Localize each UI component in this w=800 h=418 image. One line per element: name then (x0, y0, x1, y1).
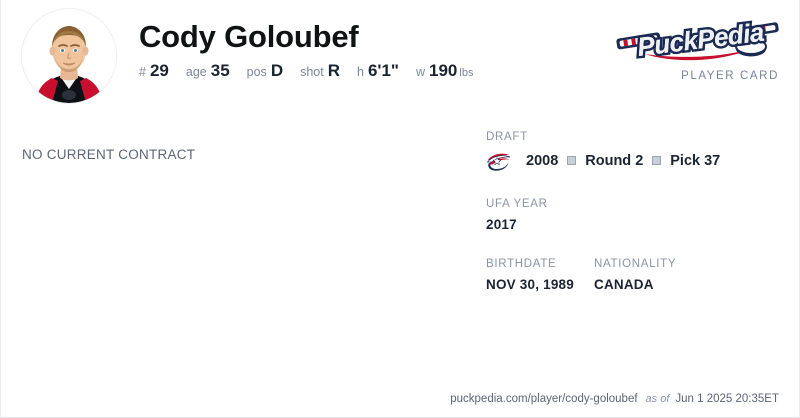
avatar (21, 8, 117, 104)
page-title: Cody Goloubef (139, 18, 473, 56)
draft-separator-icon (567, 156, 576, 165)
stat-height-value: 6'1" (368, 61, 399, 81)
stat-age-value: 35 (211, 61, 230, 81)
birth-nationality-group: BIRTHDATE NOV 30, 1989 NATIONALITY CANAD… (486, 258, 786, 292)
draft-pick: Pick 37 (670, 153, 720, 169)
stat-number: # 29 (139, 61, 169, 81)
stat-number-value: 29 (150, 61, 169, 81)
brand-subtitle: PLAYER CARD (615, 70, 783, 82)
stat-weight-label: w (416, 65, 425, 79)
name-block: Cody Goloubef # 29 age 35 pos D shot R (139, 18, 473, 81)
player-stats-row: # 29 age 35 pos D shot R h 6'1" (139, 61, 473, 81)
stat-height-label: h (357, 65, 364, 79)
footer-url[interactable]: puckpedia.com/player/cody-goloubef (450, 393, 637, 405)
birthdate-value: NOV 30, 1989 (486, 277, 594, 292)
draft-separator-icon (652, 156, 661, 165)
stat-height: h 6'1" (357, 61, 399, 81)
stat-weight: w 190 lbs (416, 61, 473, 81)
stat-shot-label: shot (300, 65, 324, 79)
columbus-blue-jackets-logo-icon (486, 150, 512, 172)
stat-position: pos D (247, 61, 283, 81)
nationality-group: NATIONALITY CANADA (594, 258, 676, 292)
draft-round: Round 2 (585, 153, 643, 169)
card-header: Cody Goloubef # 29 age 35 pos D shot R (1, 0, 800, 110)
birthdate-label: BIRTHDATE (486, 258, 594, 270)
stat-age: age 35 (186, 61, 230, 81)
stat-age-label: age (186, 65, 207, 79)
draft-group: DRAFT 2008 Round 2 Pick 37 (486, 131, 786, 172)
stat-shot: shot R (300, 61, 340, 81)
nationality-value: CANADA (594, 277, 676, 292)
stat-weight-value: 190 (429, 61, 457, 81)
footer-as-of-label: as of (646, 393, 670, 405)
draft-row: 2008 Round 2 Pick 37 (486, 150, 786, 172)
brand-block: PuckPedia PuckPedia PLAYER CARD (615, 14, 783, 82)
stat-weight-unit: lbs (459, 67, 473, 79)
draft-year: 2008 (526, 153, 558, 169)
stat-number-label: # (139, 65, 146, 79)
stat-position-value: D (271, 61, 283, 81)
card-footer: puckpedia.com/player/cody-goloubef as of… (450, 393, 779, 405)
ufa-year-value: 2017 (486, 217, 786, 232)
puckpedia-logo-icon: PuckPedia PuckPedia (615, 14, 783, 66)
stat-position-label: pos (247, 65, 267, 79)
ufa-year-group: UFA YEAR 2017 (486, 198, 786, 232)
contract-status: NO CURRENT CONTRACT (22, 147, 195, 162)
player-card: Cody Goloubef # 29 age 35 pos D shot R (0, 0, 800, 418)
player-info-column: DRAFT 2008 Round 2 Pick 37 (486, 131, 786, 292)
stat-shot-value: R (328, 61, 340, 81)
draft-label: DRAFT (486, 131, 786, 143)
ufa-year-label: UFA YEAR (486, 198, 786, 210)
nationality-label: NATIONALITY (594, 258, 676, 270)
birthdate-group: BIRTHDATE NOV 30, 1989 (486, 258, 594, 292)
footer-timestamp: Jun 1 2025 20:35ET (675, 393, 779, 405)
player-headshot-icon (22, 9, 116, 103)
